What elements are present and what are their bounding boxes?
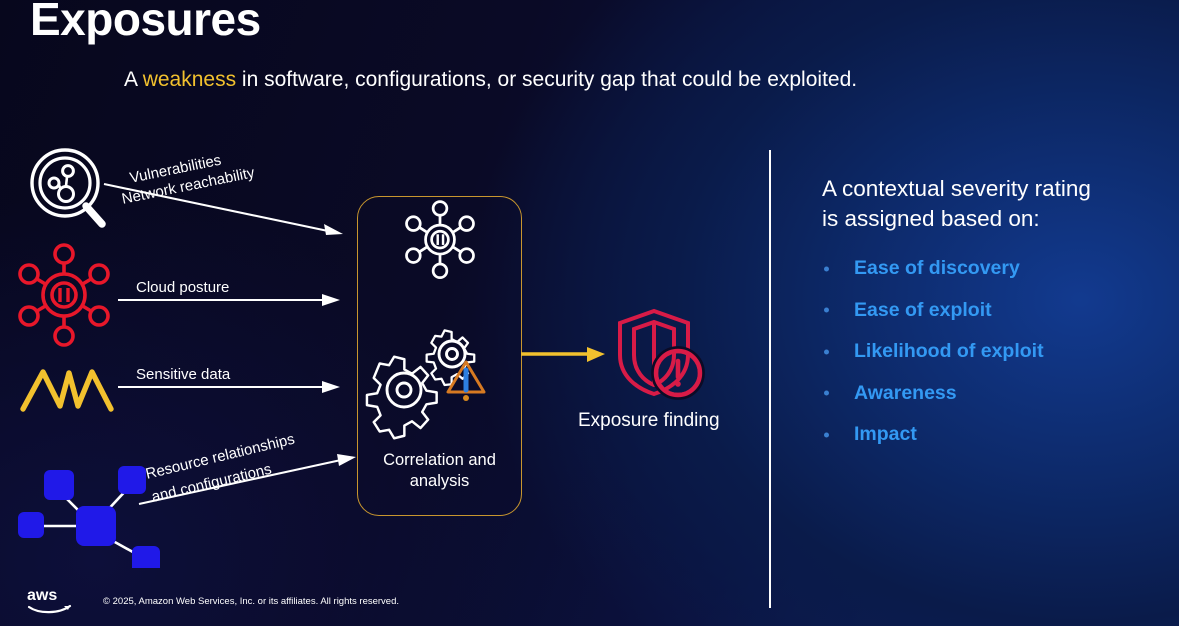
list-item-label: Impact — [854, 425, 917, 445]
page-subtitle: A weakness in software, configurations, … — [124, 68, 857, 92]
svg-text:aws: aws — [27, 587, 57, 604]
shield-alert-icon — [608, 303, 708, 408]
bullet-icon — [824, 308, 829, 313]
copyright-text: © 2025, Amazon Web Services, Inc. or its… — [103, 596, 399, 607]
bullet-icon — [824, 349, 829, 354]
severity-heading: A contextual severity rating is assigned… — [822, 174, 1162, 233]
page-title: Exposures — [30, 0, 261, 46]
list-item: Ease of exploit — [822, 290, 1162, 332]
caption-line-2: analysis — [357, 471, 522, 492]
list-item: Likelihood of exploit — [822, 331, 1162, 373]
caption-line-1: Correlation and — [357, 450, 522, 471]
aws-logo: aws — [27, 585, 73, 620]
list-item: Awareness — [822, 373, 1162, 415]
data-peaks-icon — [20, 362, 114, 423]
exposure-finding-label: Exposure finding — [578, 410, 720, 432]
magnifier-bug-icon — [24, 146, 110, 239]
gears-icon — [362, 312, 507, 447]
arrow-to-exposure-finding — [521, 345, 611, 365]
vertical-divider — [769, 150, 771, 608]
flow-label-sensitive-data: Sensitive data — [136, 366, 230, 383]
bullet-icon — [824, 432, 829, 437]
severity-heading-line-2: is assigned based on: — [822, 204, 1162, 234]
subtitle-text-after: in software, configurations, or security… — [236, 68, 857, 91]
flow-label-cloud-posture: Cloud posture — [136, 279, 229, 296]
list-item-label: Likelihood of exploit — [854, 342, 1044, 362]
list-item: Ease of discovery — [822, 248, 1162, 290]
subtitle-highlight: weakness — [143, 68, 236, 91]
network-hub-icon-center — [405, 200, 475, 285]
list-item: Impact — [822, 414, 1162, 456]
bullet-icon — [824, 391, 829, 396]
severity-factor-list: Ease of discovery Ease of exploit Likeli… — [822, 248, 1162, 456]
network-hub-icon — [18, 243, 110, 353]
slide-root: Exposures A weakness in software, config… — [0, 0, 1179, 626]
subtitle-text-before: A — [124, 68, 143, 91]
list-item-label: Awareness — [854, 384, 957, 404]
severity-heading-line-1: A contextual severity rating — [822, 174, 1162, 204]
correlation-analysis-caption: Correlation and analysis — [357, 450, 522, 492]
list-item-label: Ease of discovery — [854, 259, 1020, 279]
list-item-label: Ease of exploit — [854, 301, 992, 321]
bullet-icon — [824, 266, 829, 271]
